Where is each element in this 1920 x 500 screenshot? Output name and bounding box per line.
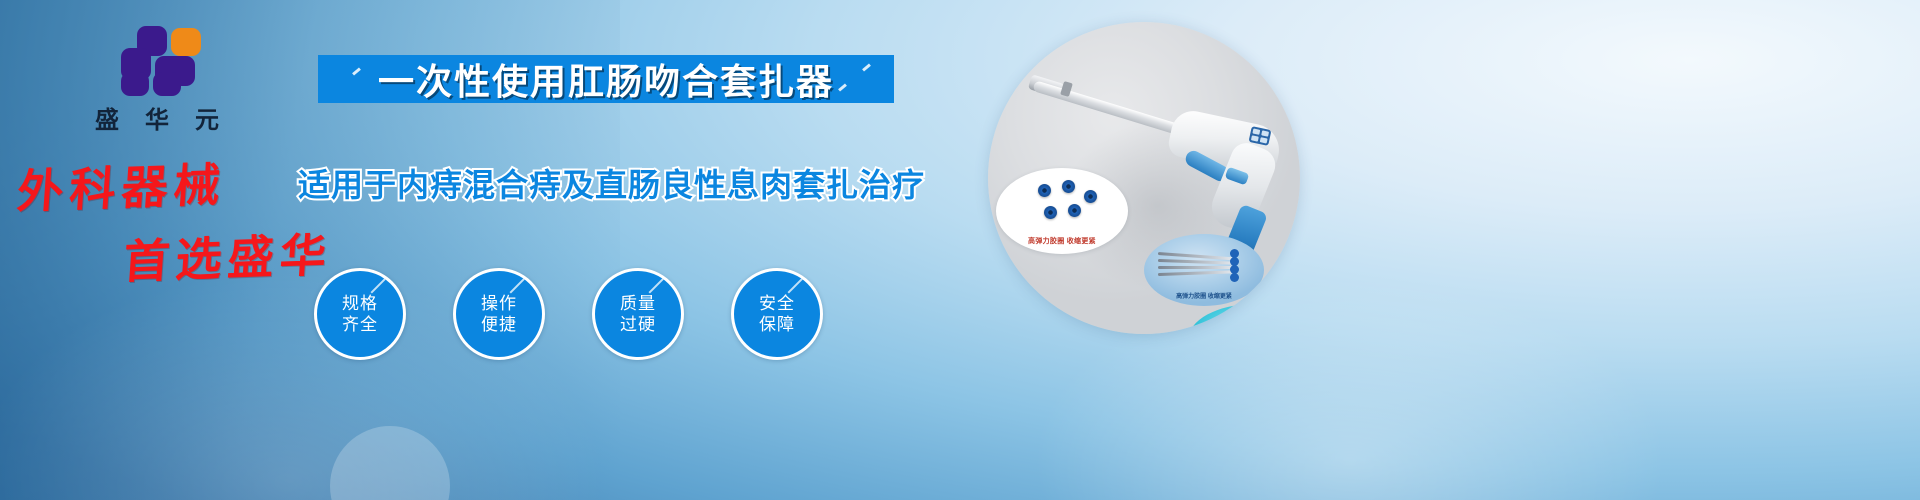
brand-logo[interactable]: 盛 华 元 (62, 26, 252, 135)
brand-name: 盛 华 元 (62, 100, 252, 135)
decorative-circle (330, 426, 450, 500)
highlight-icon (510, 277, 527, 294)
highlight-icon (788, 277, 805, 294)
inset-caption: 高弹力胶圈 收缩更紧 (996, 236, 1128, 246)
logo-mark-icon (115, 26, 199, 96)
inset-rubber-bands: 高弹力胶圈 收缩更紧 (996, 168, 1128, 254)
inset-anoscope (1188, 304, 1300, 334)
page-title: 一次性使用肛肠吻合套扎器 (378, 53, 834, 105)
feature-badge-label: 规格 齐全 (342, 293, 378, 336)
feature-badge-safety[interactable]: 安全 保障 (731, 268, 823, 360)
highlight-icon (371, 277, 388, 294)
highlight-icon (649, 277, 666, 294)
feature-badge-specs[interactable]: 规格 齐全 (314, 268, 406, 360)
headline-title-bar: 一次性使用肛肠吻合套扎器 (318, 55, 894, 103)
feature-badge-label: 质量 过硬 (620, 293, 656, 336)
feature-badge-operation[interactable]: 操作 便捷 (453, 268, 545, 360)
inset-caption: 高弹力胶圈 收缩更紧 (1144, 291, 1264, 300)
promo-banner: 盛 华 元 外科器械 首选盛华 一次性使用肛肠吻合套扎器 适用于内痔混合痔及直肠… (0, 0, 1920, 500)
headline-subtitle: 适用于内痔混合痔及直肠良性息肉套扎治疗 (298, 160, 918, 206)
product-photo: 高弹力胶圈 收缩更紧 高弹力胶圈 收缩更紧 (988, 22, 1300, 334)
feature-badge-label: 操作 便捷 (481, 293, 517, 336)
feature-badge-group: 规格 齐全 操作 便捷 质量 过硬 安全 保障 (314, 268, 874, 368)
feature-badge-quality[interactable]: 质量 过硬 (592, 268, 684, 360)
inset-needles: 高弹力胶圈 收缩更紧 (1144, 234, 1264, 306)
feature-badge-label: 安全 保障 (759, 293, 795, 336)
